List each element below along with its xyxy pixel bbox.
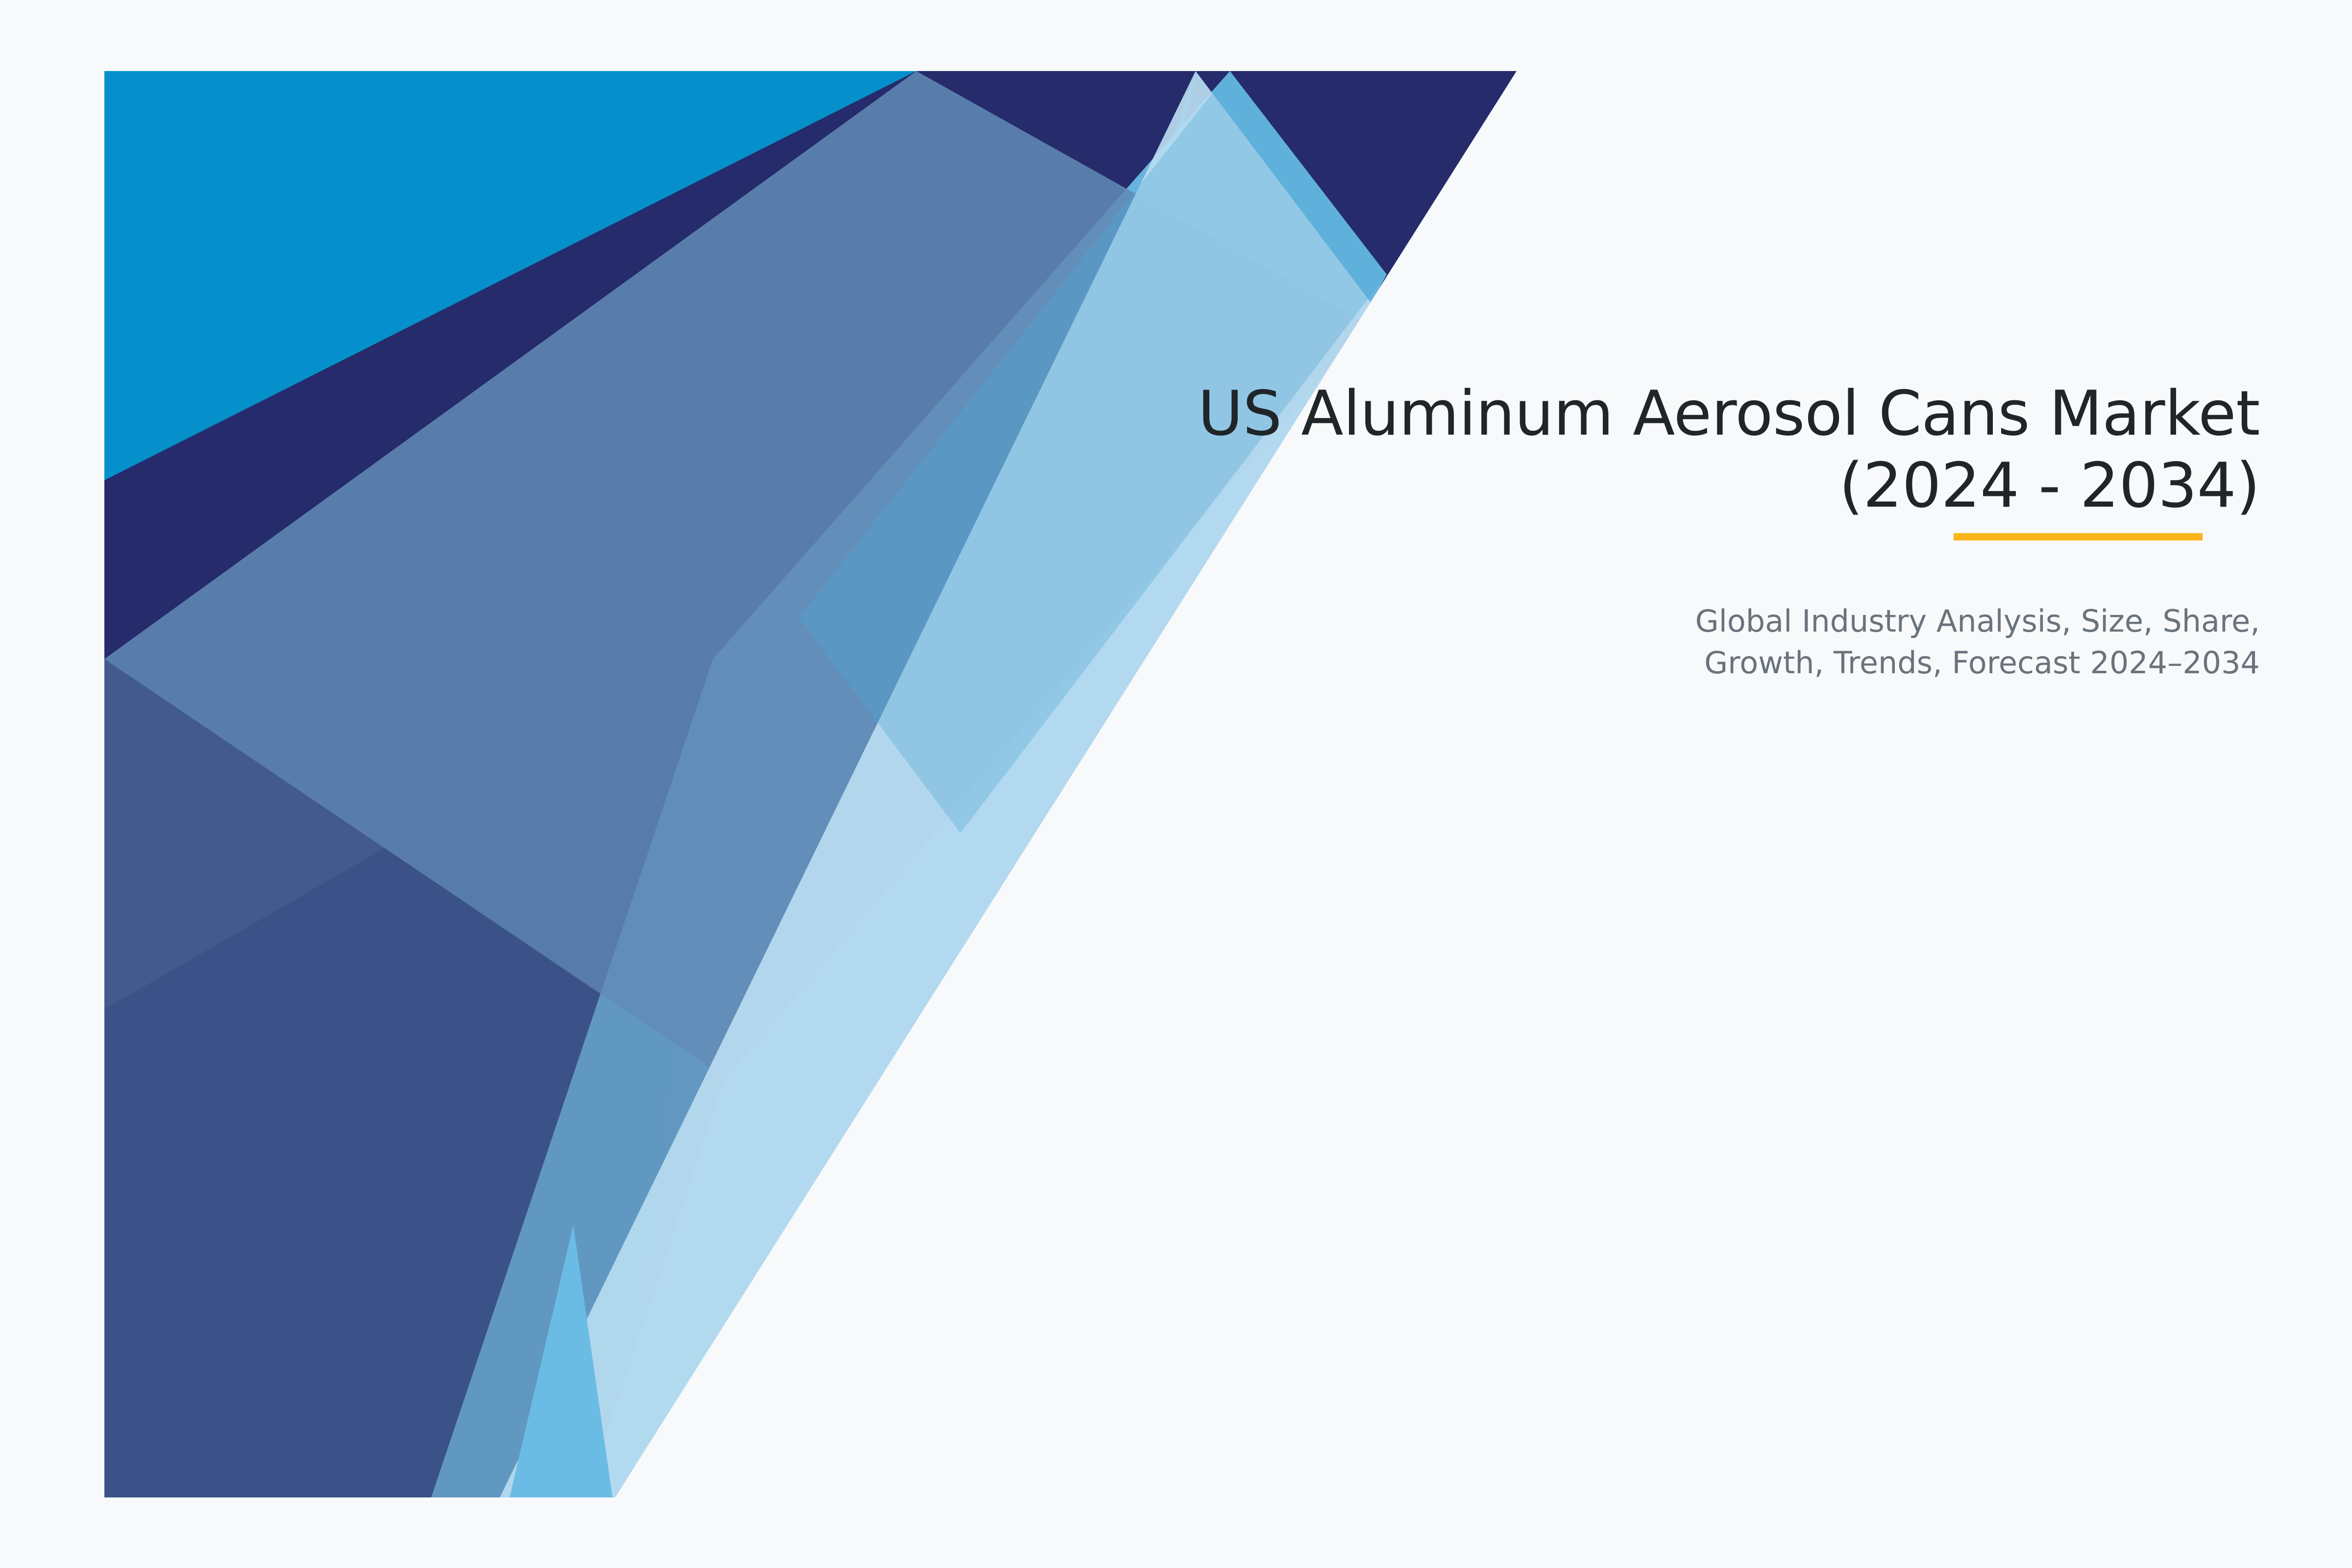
report-cover-page: US Aluminum Aerosol Cans Market (2024 - … bbox=[0, 0, 2352, 1568]
subtitle-line-1: Global Industry Analysis, Size, Share, bbox=[937, 600, 2260, 642]
title-line-2: (2024 - 2034) bbox=[937, 449, 2260, 521]
title-line-1: US Aluminum Aerosol Cans Market bbox=[937, 377, 2260, 449]
cover-text-block: US Aluminum Aerosol Cans Market (2024 - … bbox=[937, 377, 2260, 684]
subtitle-line-2: Growth, Trends, Forecast 2024–2034 bbox=[937, 642, 2260, 684]
page-subtitle: Global Industry Analysis, Size, Share, G… bbox=[937, 600, 2260, 684]
abstract-geometric-artwork bbox=[0, 0, 2352, 1568]
title-accent-underline bbox=[1954, 533, 2203, 540]
page-title: US Aluminum Aerosol Cans Market (2024 - … bbox=[937, 377, 2260, 522]
